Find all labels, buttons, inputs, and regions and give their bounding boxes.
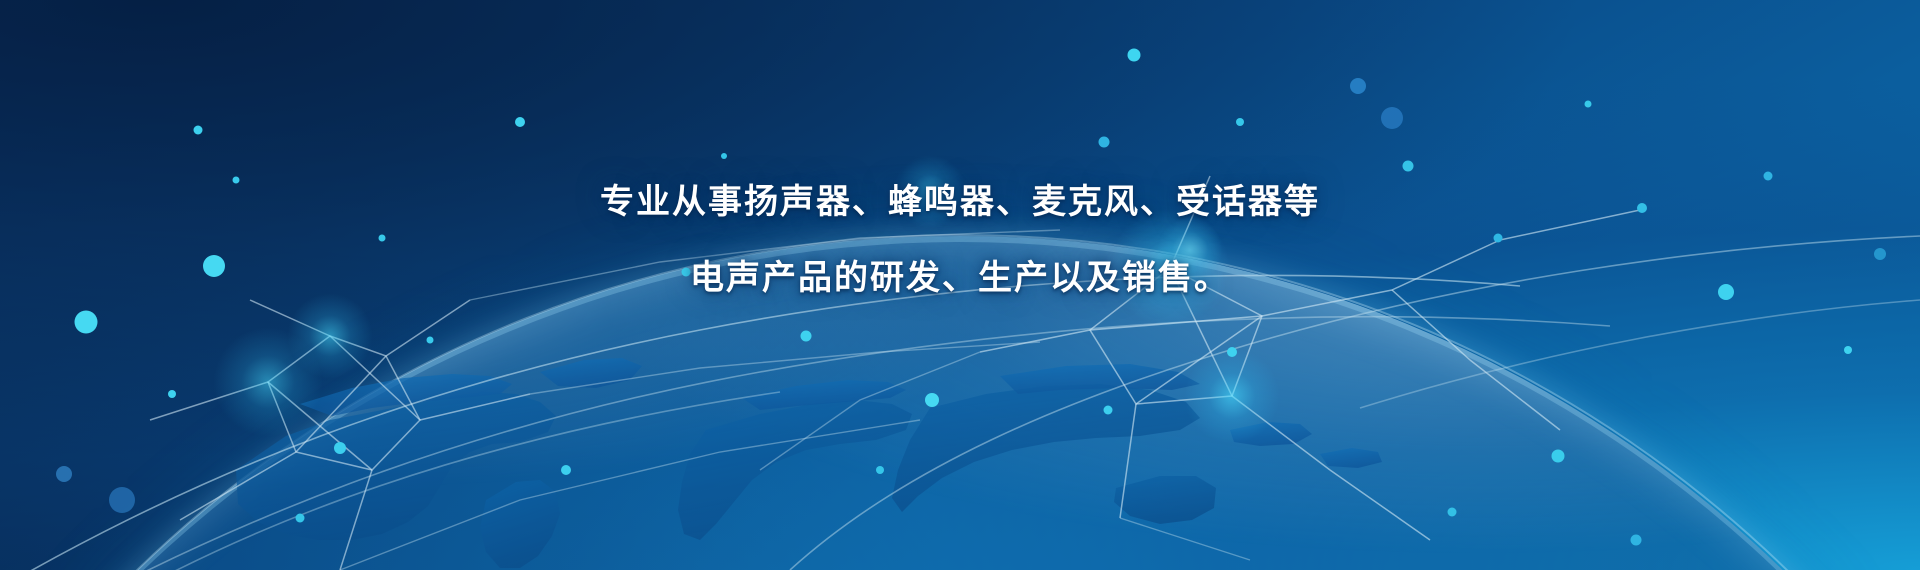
- node-dot: [1236, 118, 1244, 126]
- node-dot: [515, 117, 525, 127]
- node-dot: [1350, 78, 1366, 94]
- node-glow: [213, 327, 323, 437]
- node-dot: [168, 390, 176, 398]
- node-dot: [1448, 508, 1457, 517]
- node-dot: [109, 487, 135, 513]
- headline: 专业从事扬声器、蜂鸣器、麦克风、受话器等 电声产品的研发、生产以及销售。: [0, 164, 1920, 316]
- node-dot: [296, 514, 305, 523]
- node-dot: [1631, 535, 1642, 546]
- node-dot: [1844, 346, 1852, 354]
- node-dot: [1099, 137, 1110, 148]
- node-glow: [1184, 348, 1280, 444]
- node-dot: [56, 466, 72, 482]
- node-dot: [1104, 406, 1113, 415]
- node-dot: [1227, 347, 1237, 357]
- node-dot: [801, 331, 812, 342]
- node-dot: [334, 442, 346, 454]
- node-dot: [876, 466, 884, 474]
- node-dot: [427, 337, 434, 344]
- node-dot: [194, 126, 203, 135]
- node-dot: [1552, 450, 1565, 463]
- node-dot: [1128, 49, 1141, 62]
- node-dot: [561, 465, 571, 475]
- node-dot: [1585, 101, 1592, 108]
- headline-line-2: 电声产品的研发、生产以及销售。: [0, 240, 1920, 316]
- headline-line-1: 专业从事扬声器、蜂鸣器、麦克风、受话器等: [0, 164, 1920, 240]
- node-dot: [925, 393, 939, 407]
- node-dot: [1381, 107, 1403, 129]
- hero-banner: 专业从事扬声器、蜂鸣器、麦克风、受话器等 电声产品的研发、生产以及销售。: [0, 0, 1920, 570]
- node-dot: [721, 153, 727, 159]
